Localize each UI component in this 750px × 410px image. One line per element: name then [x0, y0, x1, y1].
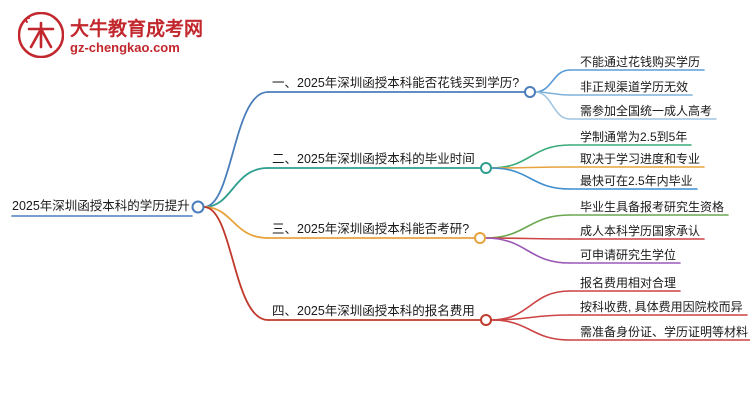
mindmap-leaf-label: 取决于学习进度和专业 [580, 153, 700, 165]
mindmap-connector [491, 315, 570, 320]
mindmap-leaf-label: 毕业生具备报考研究生资格 [580, 201, 724, 213]
mindmap-leaf-label: 报名费用相对合理 [580, 277, 676, 289]
mindmap-nodes [193, 87, 536, 325]
mindmap-branch-label: 四、2025年深圳函授本科的报名费用 [272, 305, 475, 318]
mindmap-leaf-label: 非正规渠道学历无效 [580, 81, 688, 93]
mindmap-node-dot [475, 233, 485, 243]
mindmap-branch-label: 三、2025年深圳函授本科能否考研? [272, 223, 469, 236]
mindmap-node-dot [193, 202, 204, 213]
mindmap-leaf-label: 最快可在2.5年内毕业 [580, 175, 693, 187]
mindmap-root-label: 2025年深圳函授本科的学历提升 [12, 200, 190, 213]
mindmap-connector [491, 145, 570, 168]
mindmap-connector [485, 215, 570, 238]
mindmap-node-dot [481, 163, 491, 173]
mindmap-connector [535, 92, 570, 119]
mindmap-node-dot [481, 315, 491, 325]
mindmap-leaf-label: 不能通过花钱购买学历 [580, 56, 700, 68]
mindmap-leaf-label: 成人本科学历国家承认 [580, 225, 700, 237]
mindmap-leaf-label: 按科收费, 具体费用因院校而异 [580, 301, 743, 313]
mindmap-connector [535, 70, 570, 92]
mindmap-connector [491, 320, 570, 340]
mindmap-branch-label: 二、2025年深圳函授本科的毕业时间 [272, 153, 475, 166]
mindmap-leaf-label: 需参加全国统一成人高考 [580, 105, 712, 117]
mindmap-connector [485, 238, 570, 263]
mindmap-leaf-label: 学制通常为2.5到5年 [580, 131, 687, 143]
mindmap-branch-label: 一、2025年深圳函授本科能否花钱买到学历? [272, 77, 519, 90]
mindmap-leaf-label: 需准备身份证、学历证明等材料 [580, 326, 748, 338]
mindmap-connector [491, 168, 570, 189]
mindmap-connector [204, 92, 268, 207]
mindmap-node-dot [525, 87, 535, 97]
mindmap-leaf-label: 可申请研究生学位 [580, 249, 676, 261]
